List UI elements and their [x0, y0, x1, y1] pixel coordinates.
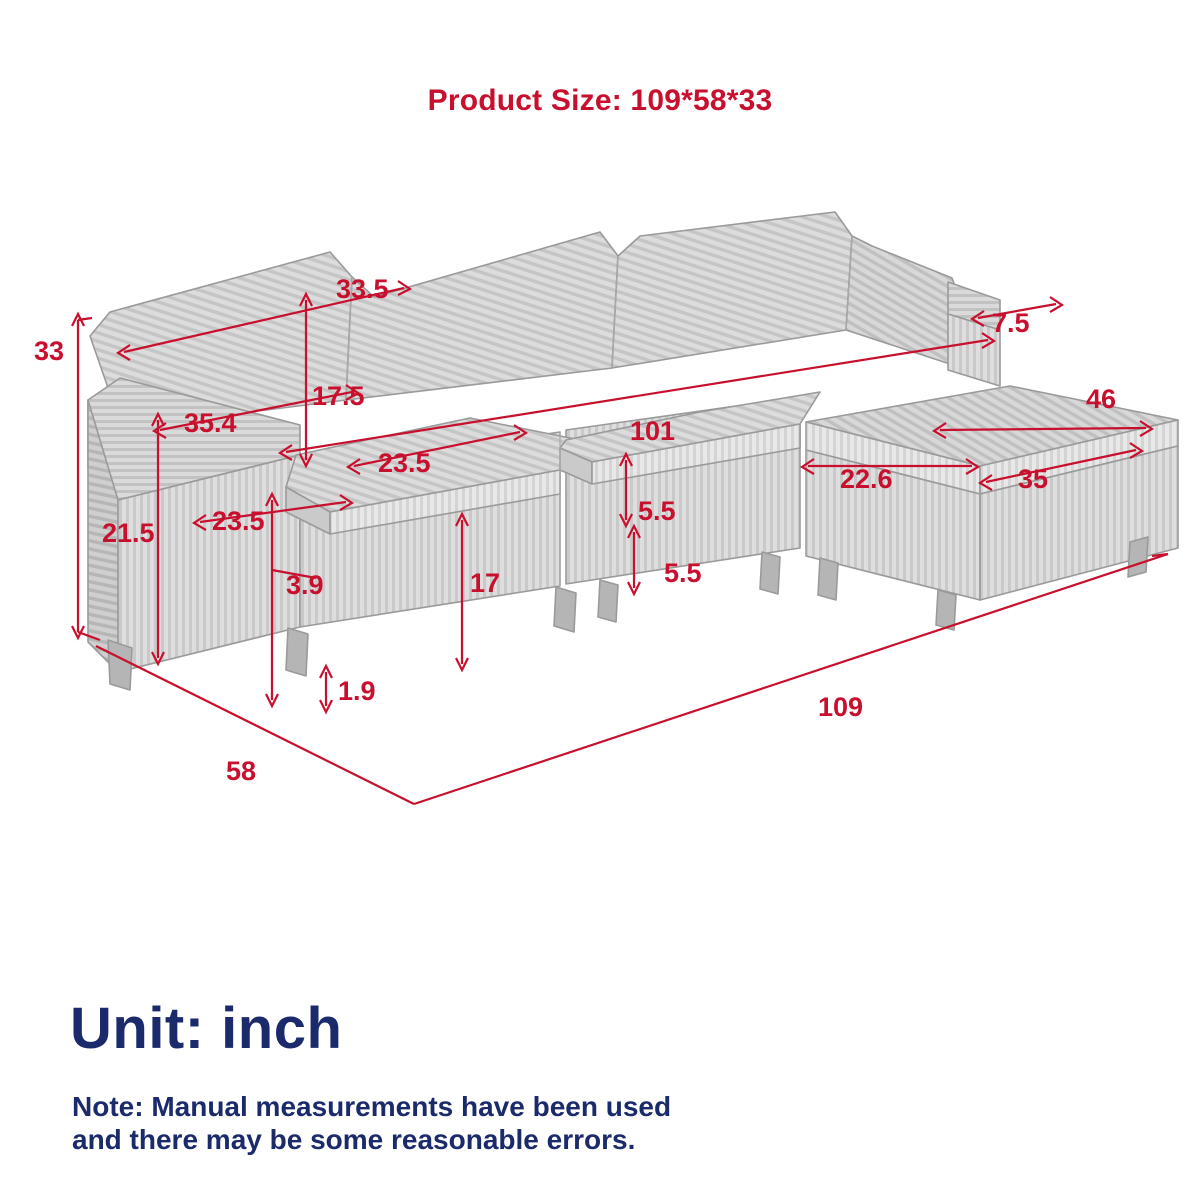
note-text: Note: Manual measurements have been used…	[72, 1090, 1152, 1156]
note-line-1: Note: Manual measurements have been used	[72, 1090, 1152, 1123]
dim-label-5-5-b: 5.5	[664, 558, 702, 588]
dim-label-35-4: 35.4	[184, 408, 237, 438]
dim-label-3-9: 3.9	[286, 570, 324, 600]
dim-label-109: 109	[818, 692, 863, 722]
dim-label-33: 33	[34, 336, 64, 366]
dim-label-23-5-a: 23.5	[378, 448, 431, 478]
diagram-stage: Product Size: 109*58*33	[0, 0, 1200, 1200]
dim-label-17-5: 17.5	[312, 381, 365, 411]
unit-label: Unit: inch	[70, 995, 342, 1062]
dim-label-58: 58	[226, 756, 256, 786]
dim-label-46: 46	[1086, 384, 1116, 414]
dimension-annotations: 33 33.5 17.5 35.4 23.5 23.5 21.5 3.9 17 …	[0, 0, 1200, 900]
dim-label-23-5-b: 23.5	[212, 506, 265, 536]
dim-label-35: 35	[1018, 464, 1048, 494]
dim-label-17: 17	[470, 568, 500, 598]
note-line-2: and there may be some reasonable errors.	[72, 1123, 1152, 1156]
dim-label-33-5: 33.5	[336, 274, 389, 304]
dim-label-21-5: 21.5	[102, 518, 155, 548]
dim-label-101: 101	[630, 416, 675, 446]
dim-label-7-5: 7.5	[992, 308, 1030, 338]
dim-label-22-6: 22.6	[840, 464, 893, 494]
dim-label-1-9: 1.9	[338, 676, 376, 706]
dim-label-5-5-a: 5.5	[638, 496, 676, 526]
